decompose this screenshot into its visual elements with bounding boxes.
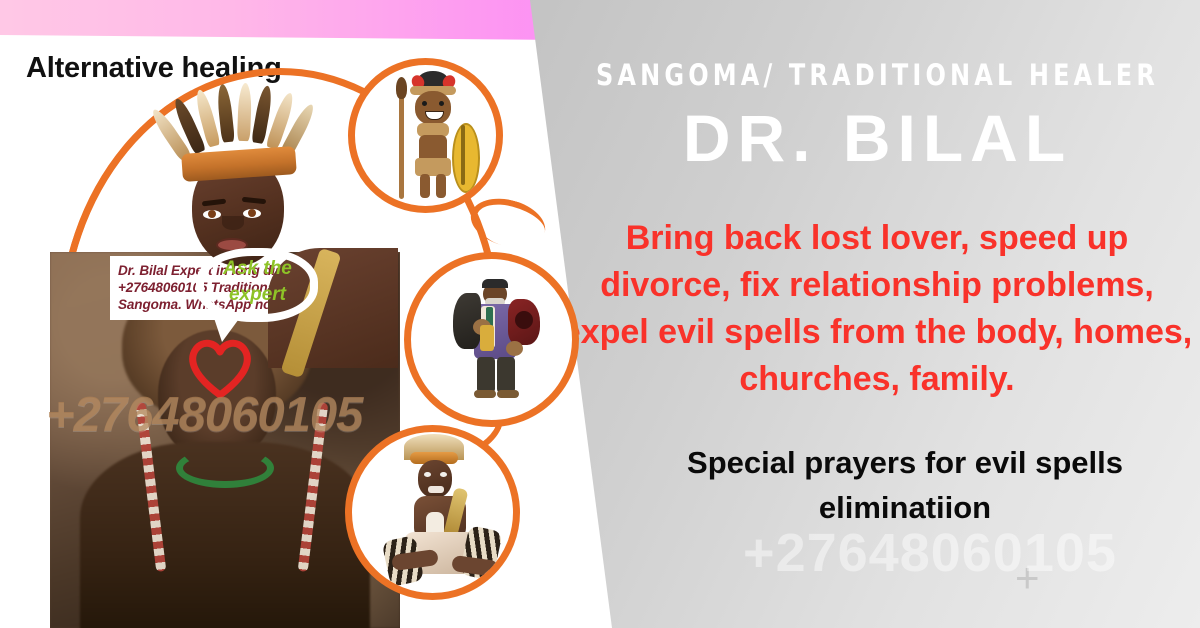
healer-bags-art (411, 259, 572, 420)
speech-bubble-text: Ask the expert (200, 256, 315, 308)
dancer-eye-right (440, 472, 447, 477)
figure-nose (222, 216, 244, 230)
warrior-eye-right (439, 101, 444, 106)
healer-hat (482, 279, 508, 288)
circle-image-warrior (348, 58, 503, 213)
healer-sandal-left (474, 390, 496, 398)
page-title: DR. BILAL (565, 102, 1190, 174)
kicker-headline: SANGOMA/ TRADITIONAL HEALER (590, 58, 1165, 92)
prayers-paragraph: Special prayers for evil spells eliminat… (605, 440, 1200, 530)
warrior-shield (452, 123, 480, 193)
right-content-column: SANGOMA/ TRADITIONAL HEALER DR. BILAL Br… (545, 0, 1200, 628)
warrior-leg-right (436, 174, 446, 198)
warrior-eye-left (422, 101, 427, 106)
dancer-eye-left (424, 472, 431, 477)
healer-trouser-left (477, 357, 495, 393)
services-paragraph: Bring back lost lover, speed up divorce,… (557, 215, 1197, 403)
warrior-skirt (415, 158, 451, 176)
circle-image-healer-with-bags (404, 252, 579, 427)
warrior-spear (399, 83, 404, 199)
phone-watermark: +27648060105 (650, 522, 1200, 584)
warrior-shield-stripe (461, 125, 465, 185)
dancer-teeth (428, 486, 444, 493)
healer-trouser-right (497, 357, 515, 393)
dancer-art (352, 432, 513, 593)
healer-sandal-right (497, 390, 519, 398)
warrior-spear-tip (396, 77, 407, 99)
warrior-art (355, 65, 496, 206)
figure-pupil-left (208, 210, 216, 218)
healer-gourd-right (506, 341, 523, 356)
healer-sash (480, 325, 494, 351)
healer-bag-swirl (515, 311, 533, 329)
circle-image-dancer (345, 425, 520, 600)
photo-green-necklace (176, 448, 274, 488)
poster-canvas: + SANGOMA/ TRADITIONAL HEALER DR. BILAL … (0, 0, 1200, 628)
pink-top-bar (0, 0, 590, 40)
warrior-leg-left (420, 174, 430, 198)
figure-pupil-right (248, 209, 256, 217)
